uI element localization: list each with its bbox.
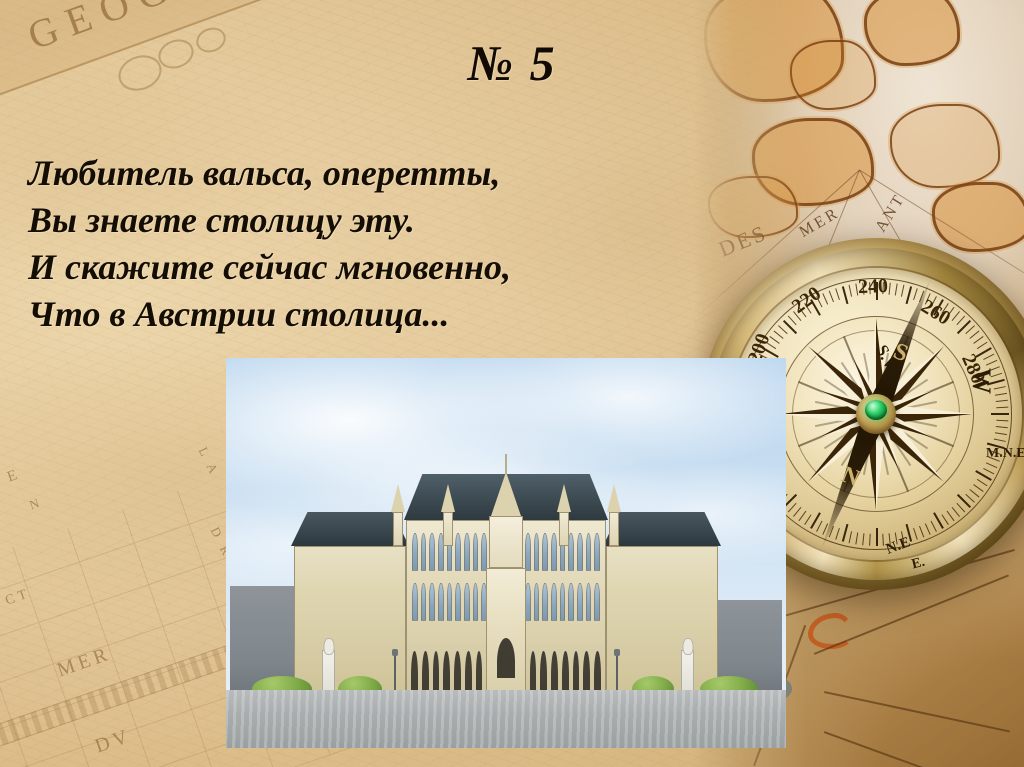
compass-tick (947, 511, 955, 521)
facade-window (594, 583, 600, 621)
compass-tick (842, 286, 849, 304)
compass-tick (952, 507, 960, 517)
facade-window (421, 533, 427, 571)
facade-window (421, 583, 427, 621)
compass-tick (996, 400, 1008, 402)
corner-turret (606, 484, 622, 546)
compass-tick (995, 432, 1007, 435)
compass-tick (995, 393, 1007, 396)
compass-tick (983, 468, 994, 474)
rathaus-building (294, 456, 718, 696)
compass-tick (986, 360, 997, 366)
compass-cardinal-label: W (966, 368, 996, 394)
compass-tick (969, 489, 979, 497)
compass-tick (849, 285, 852, 297)
building-wing-left (294, 546, 406, 696)
compass-tick (889, 283, 891, 295)
compass-tick (931, 521, 937, 532)
compass-tick (876, 528, 878, 546)
tower-portal-arch (497, 638, 515, 678)
compass-degree-label: 240 (858, 275, 889, 299)
compass-tick (778, 325, 788, 334)
turret-spire (391, 484, 405, 512)
compass-tick (862, 533, 864, 545)
compass-tick (973, 484, 983, 492)
turret-body (443, 512, 453, 546)
facade-window (586, 583, 592, 621)
tower-finial (505, 454, 507, 474)
facade-window (429, 533, 435, 571)
compass-tick (901, 285, 904, 297)
compass-tick (788, 503, 797, 513)
poem-line: Что в Австрии столица... (28, 291, 728, 338)
compass-tick (994, 438, 1006, 441)
arcade-arch (411, 651, 418, 691)
facade-window (455, 533, 461, 571)
turret-spire (557, 484, 571, 512)
facade-window (447, 583, 453, 621)
facade-window (560, 583, 566, 621)
slide-canvas: RBIS GEOGRA MERDVCTENL AD R DESMERANTMER… (0, 0, 1024, 767)
compass-tick (829, 291, 834, 303)
compass-tick (996, 407, 1008, 409)
facade-window (594, 533, 600, 571)
compass-tick (925, 523, 931, 534)
compass-tick (849, 531, 852, 543)
turret-body (609, 512, 619, 546)
facade-window (438, 583, 444, 621)
vienna-city-hall-photo (226, 358, 786, 748)
facade-window (455, 583, 461, 621)
corner-turret (440, 484, 456, 546)
compass-tick (895, 284, 898, 296)
turret-body (393, 512, 403, 546)
tower-belfry (489, 516, 523, 568)
facade-window (551, 583, 557, 621)
compass-tick (799, 511, 807, 521)
compass-jewel (865, 400, 887, 420)
compass-tick (973, 336, 983, 344)
arcade-arch (433, 651, 440, 691)
poem-line: Вы знаете столицу эту. (28, 197, 728, 244)
illustration-frame (226, 358, 786, 748)
corner-turret (390, 484, 406, 546)
compass-tick (835, 288, 840, 300)
compass-tick (913, 528, 918, 540)
arcade-arch (465, 651, 472, 691)
compass-tick (986, 462, 997, 468)
tower-spire (491, 472, 521, 516)
arcade-arch (583, 651, 590, 691)
facade-window (542, 583, 548, 621)
compass-tick (991, 413, 1009, 415)
facade-window (586, 533, 592, 571)
facade-window (464, 533, 470, 571)
compass-tick (969, 331, 979, 339)
compass-tick (941, 514, 948, 525)
compass-tick (977, 342, 988, 349)
arcade-arch (422, 651, 429, 691)
arcade-arch (551, 651, 558, 691)
riddle-text: Любитель вальса, оперетты, Вы знаете сто… (28, 150, 728, 338)
poem-line: Любитель вальса, оперетты, (28, 150, 728, 197)
compass-tick (855, 532, 858, 544)
compass-tick (956, 503, 965, 513)
poem-line: И скажите сейчас мгновенно, (28, 244, 728, 291)
facade-window (412, 533, 418, 571)
compass-cardinal-label: M.N.E (986, 446, 1024, 462)
facade-window (429, 583, 435, 621)
map-label: MER (796, 204, 843, 241)
compass-tick (869, 534, 871, 546)
facade-window (577, 533, 583, 571)
building-wing-right (606, 546, 718, 696)
facade-window (542, 533, 548, 571)
arcade-arch (540, 651, 547, 691)
turret-spire (607, 484, 621, 512)
arcade-arch (562, 651, 569, 691)
facade-window (577, 583, 583, 621)
facade-window (464, 583, 470, 621)
arcade-arch (594, 651, 601, 691)
turret-body (559, 512, 569, 546)
facade-window (412, 583, 418, 621)
compass-tick (804, 514, 811, 525)
compass-tick (919, 526, 924, 538)
compass-tick (996, 420, 1008, 422)
turret-spire (441, 484, 455, 512)
compass-tick (965, 325, 975, 334)
map-label: ANT (872, 190, 909, 235)
central-clock-tower (475, 456, 537, 696)
compass-tick (793, 507, 801, 517)
arcade-arch (443, 651, 450, 691)
plaza-ground (226, 690, 786, 748)
coastline-shape (890, 104, 1000, 188)
page-title: № 5 (0, 34, 1024, 92)
compass-tick (977, 479, 988, 486)
corner-turret (556, 484, 572, 546)
facade-window (568, 583, 574, 621)
arcade-arch (454, 651, 461, 691)
arcade-arch (573, 651, 580, 691)
compass-tick (983, 354, 994, 360)
coastline-shape (932, 182, 1024, 252)
compass-tick (996, 426, 1008, 428)
